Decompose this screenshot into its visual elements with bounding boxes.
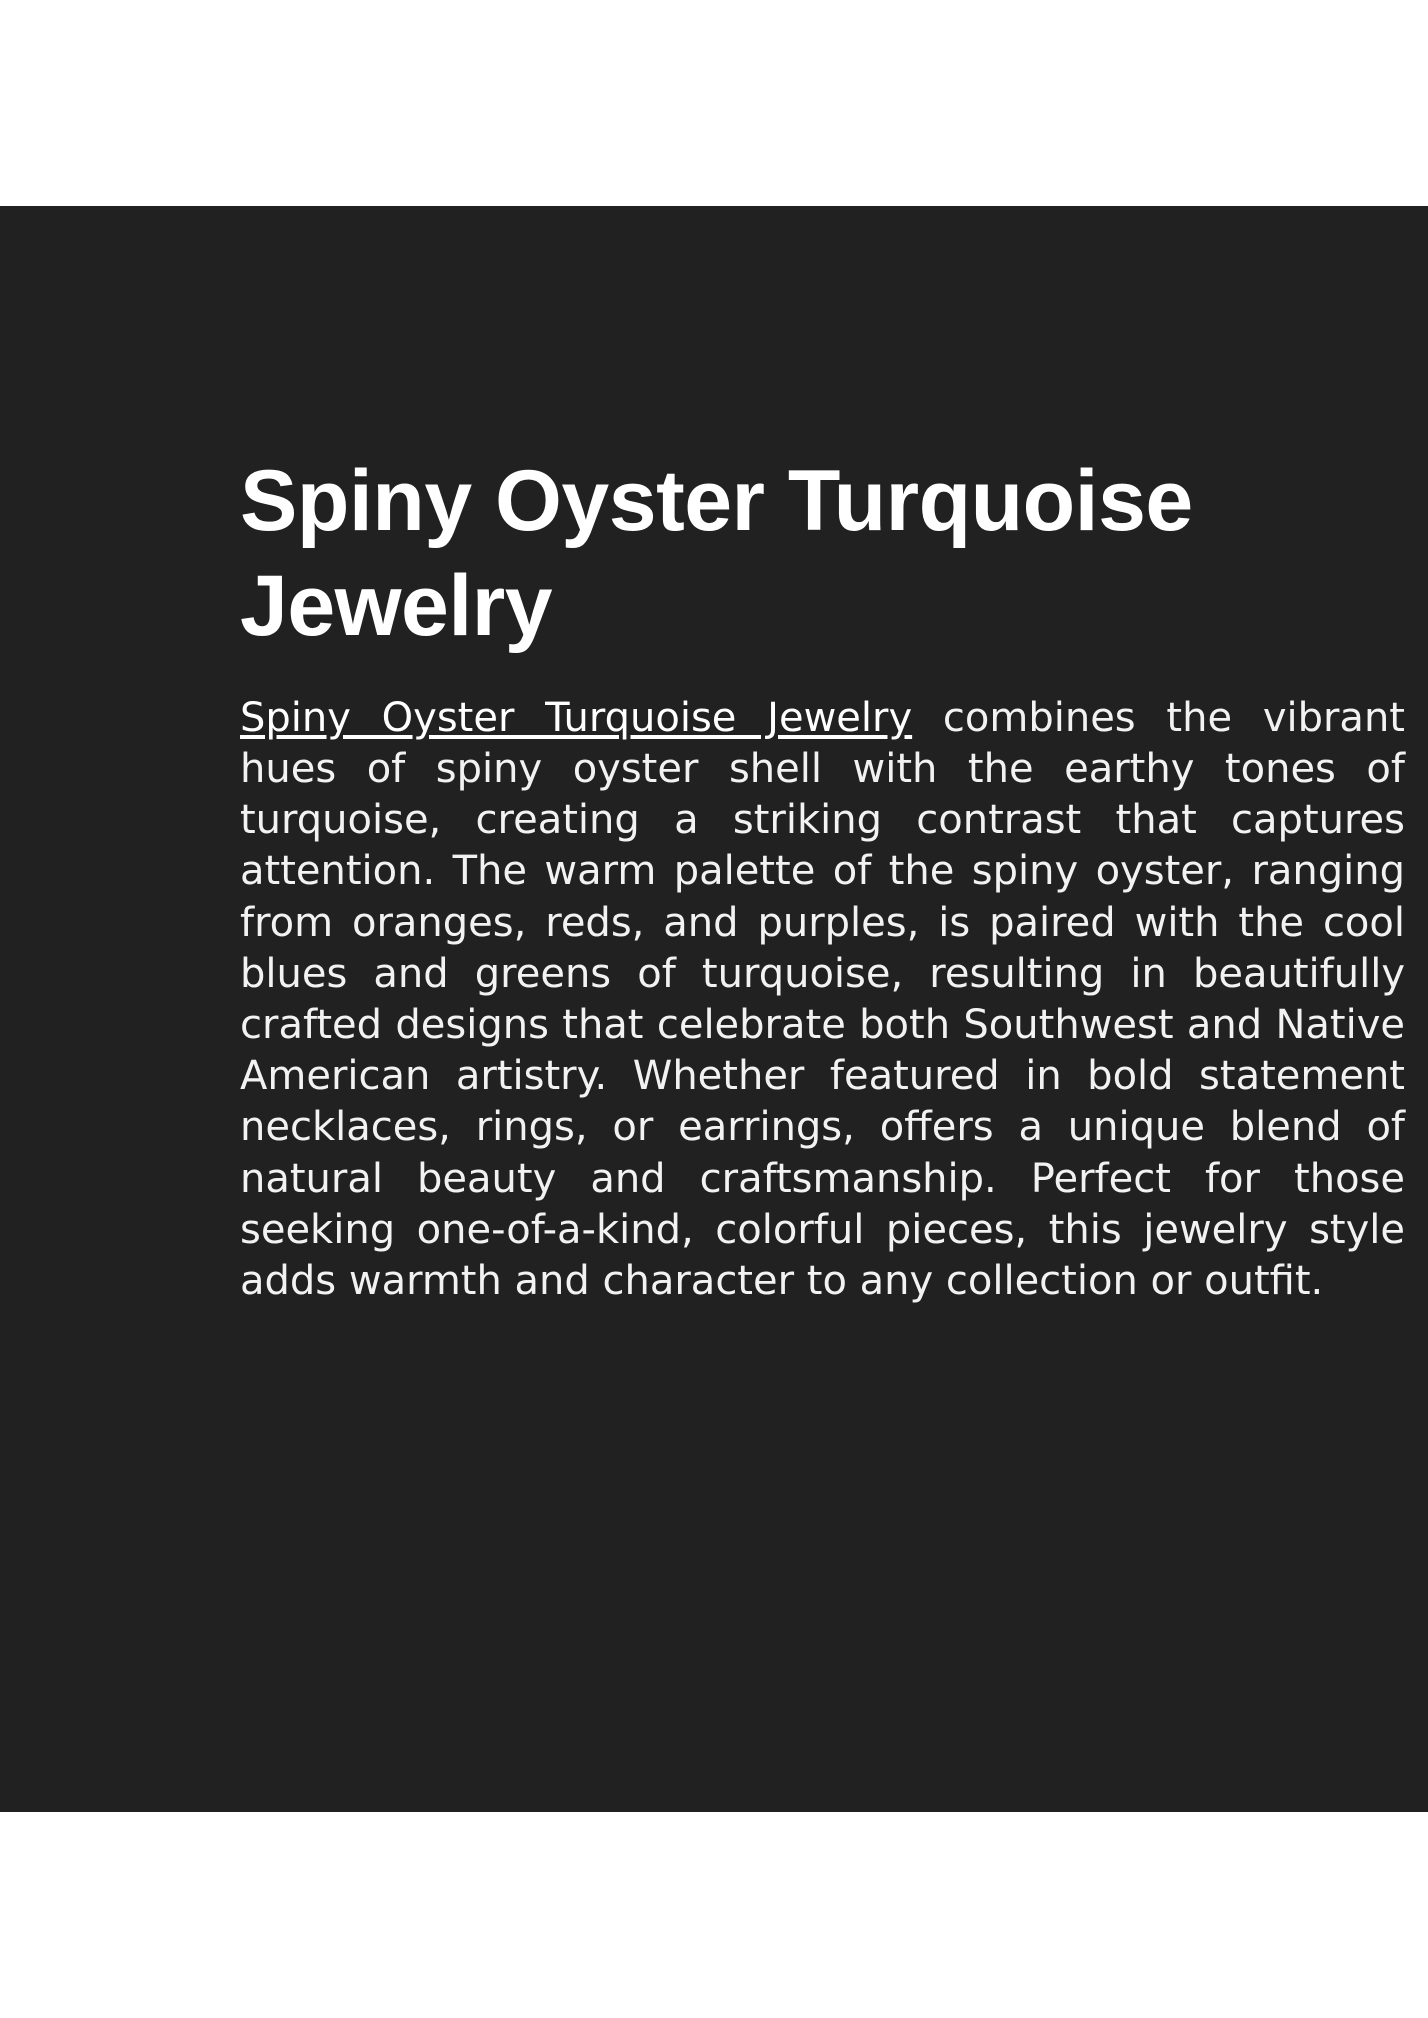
page-bottom-margin [0,1812,1428,2018]
hero-description-body: combines the vibrant hues of spiny oyste… [240,695,1405,1304]
hero-inline-link[interactable]: Spiny Oyster Turquoise Jewelry [240,695,912,741]
page-title: Spiny Oyster Turquoise Jewelry [240,449,1280,659]
hero-panel: Spiny Oyster Turquoise Jewelry Spiny Oys… [0,206,1428,1812]
hero-description: Spiny Oyster Turquoise Jewelry combines … [240,693,1405,1307]
page-root: Spiny Oyster Turquoise Jewelry Spiny Oys… [0,0,1428,2018]
page-top-margin [0,0,1428,206]
hero-content: Spiny Oyster Turquoise Jewelry Spiny Oys… [240,449,1428,1307]
